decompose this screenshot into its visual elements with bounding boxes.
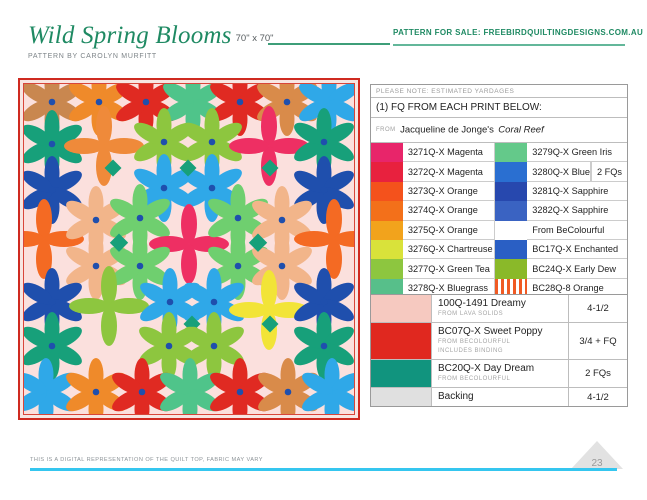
fabric-source: FROM BECOLOURFUL (438, 338, 562, 347)
quilt-inner-border (23, 83, 355, 415)
swatch (495, 143, 527, 162)
fabric-code: 3280Q-X Blue (527, 162, 591, 181)
table-row: BC20Q-X Day Dream FROM BECOLOURFUL 2 FQs (371, 360, 627, 388)
designer-name: Jacqueline de Jonge's (400, 124, 494, 135)
pattern-page: Wild Spring Blooms70" x 70" PATTERN BY C… (0, 0, 647, 500)
fabric-code: BC24Q-X Early Dew (527, 259, 627, 278)
fabric-code: 3275Q-X Orange (403, 221, 496, 240)
backing-name-cell: 100Q-1491 Dreamy FROM LAVA SOLIDS (431, 295, 569, 322)
fq-instruction: (1) FQ FROM EACH PRINT BELOW: (371, 98, 627, 118)
swatch-empty (495, 221, 527, 240)
fabric-code: 3274Q-X Orange (403, 201, 496, 220)
byline: PATTERN BY CAROLYN MURFITT (28, 53, 274, 60)
right-swatch-column (495, 143, 527, 298)
swatch (495, 201, 527, 220)
title-rule (268, 43, 390, 45)
swatch (495, 240, 527, 259)
fabric-qty: 2 FQs (569, 360, 627, 387)
backing-name-cell: BC20Q-X Day Dream FROM BECOLOURFUL (431, 360, 569, 387)
quilt-artwork (24, 84, 354, 414)
swatch (495, 259, 527, 278)
left-label-column: 3271Q-X Magenta 3272Q-X Magenta 3273Q-X … (403, 143, 496, 298)
footer-rule (30, 468, 617, 471)
collection-name: Coral Reef (498, 124, 543, 135)
swatch (495, 162, 527, 181)
becolourful-subheader: From BeColourful (527, 221, 627, 240)
title-block: Wild Spring Blooms70" x 70" PATTERN BY C… (28, 22, 274, 60)
backing-table: 100Q-1491 Dreamy FROM LAVA SOLIDS 4-1/2 … (370, 294, 628, 407)
yardage-table: PLEASE NOTE: ESTIMATED YARDAGES (1) FQ F… (370, 84, 628, 299)
backing-name-cell: Backing (431, 388, 569, 406)
swatch (371, 201, 403, 220)
collection-italic: Coral Reef (498, 124, 543, 135)
page-title: Wild Spring Blooms (28, 22, 232, 50)
sale-rule (393, 44, 625, 46)
fabric-code: 3272Q-X Magenta (403, 162, 496, 181)
fabric-grid: 3271Q-X Magenta 3272Q-X Magenta 3273Q-X … (371, 143, 627, 298)
fabric-source: FROM BECOLOURFUL (438, 375, 562, 384)
swatch (371, 182, 403, 201)
swatch (371, 259, 403, 278)
fabric-qty: 2 FQs (591, 162, 627, 181)
fabric-code: 3277Q-X Green Tea (403, 259, 496, 278)
fabric-code: BC17Q-X Enchanted (527, 240, 627, 259)
right-label-column: 3279Q-X Green Iris 3280Q-X Blue 2 FQs 32… (527, 143, 627, 298)
table-row: BC07Q-X Sweet Poppy FROM BECOLOURFUL INC… (371, 323, 627, 360)
fabric-name: BC07Q-X Sweet Poppy (438, 326, 562, 338)
swatch (371, 143, 403, 162)
table-row: 100Q-1491 Dreamy FROM LAVA SOLIDS 4-1/2 (371, 295, 627, 323)
swatch (495, 182, 527, 201)
fabric-code: 3282Q-X Sapphire (527, 201, 627, 220)
from-label: FROM (376, 127, 396, 133)
estimated-yardages-note: PLEASE NOTE: ESTIMATED YARDAGES (371, 85, 627, 98)
swatch (371, 295, 431, 322)
swatch (371, 221, 403, 240)
fabric-code: 3279Q-X Green Iris (527, 143, 627, 162)
fabric-code: 3276Q-X Chartreuse (403, 240, 496, 259)
swatch (371, 323, 431, 359)
table-row: Backing 4-1/2 (371, 388, 627, 406)
swatch (371, 388, 431, 406)
fabric-name: 100Q-1491 Dreamy (438, 298, 562, 310)
fabric-code: 3271Q-X Magenta (403, 143, 496, 162)
footer-disclaimer: THIS IS A DIGITAL REPRESENTATION OF THE … (30, 457, 263, 463)
fabric-name: Backing (438, 391, 562, 403)
fabric-code: 3281Q-X Sapphire (527, 182, 627, 201)
fabric-collection-row: FROM Jacqueline de Jonge's Coral Reef (371, 118, 627, 143)
fabric-qty: 4-1/2 (569, 295, 627, 322)
fabric-qty: 3/4 + FQ (569, 323, 627, 359)
fabric-code: 3273Q-X Orange (403, 182, 496, 201)
fabric-name: BC20Q-X Day Dream (438, 363, 562, 375)
swatch (371, 162, 403, 181)
left-swatch-column (371, 143, 403, 298)
quilt-top-image (18, 78, 360, 420)
swatch (371, 360, 431, 387)
backing-name-cell: BC07Q-X Sweet Poppy FROM BECOLOURFUL INC… (431, 323, 569, 359)
swatch (371, 240, 403, 259)
fabric-source: FROM LAVA SOLIDS (438, 310, 562, 319)
fabric-note: INCLUDES BINDING (438, 347, 562, 356)
fabric-qty: 4-1/2 (569, 388, 627, 406)
pattern-for-sale-text: PATTERN FOR SALE: FREEBIRDQUILTINGDESIGN… (393, 28, 643, 37)
fabric-row-with-qty: 3280Q-X Blue 2 FQs (527, 162, 627, 181)
